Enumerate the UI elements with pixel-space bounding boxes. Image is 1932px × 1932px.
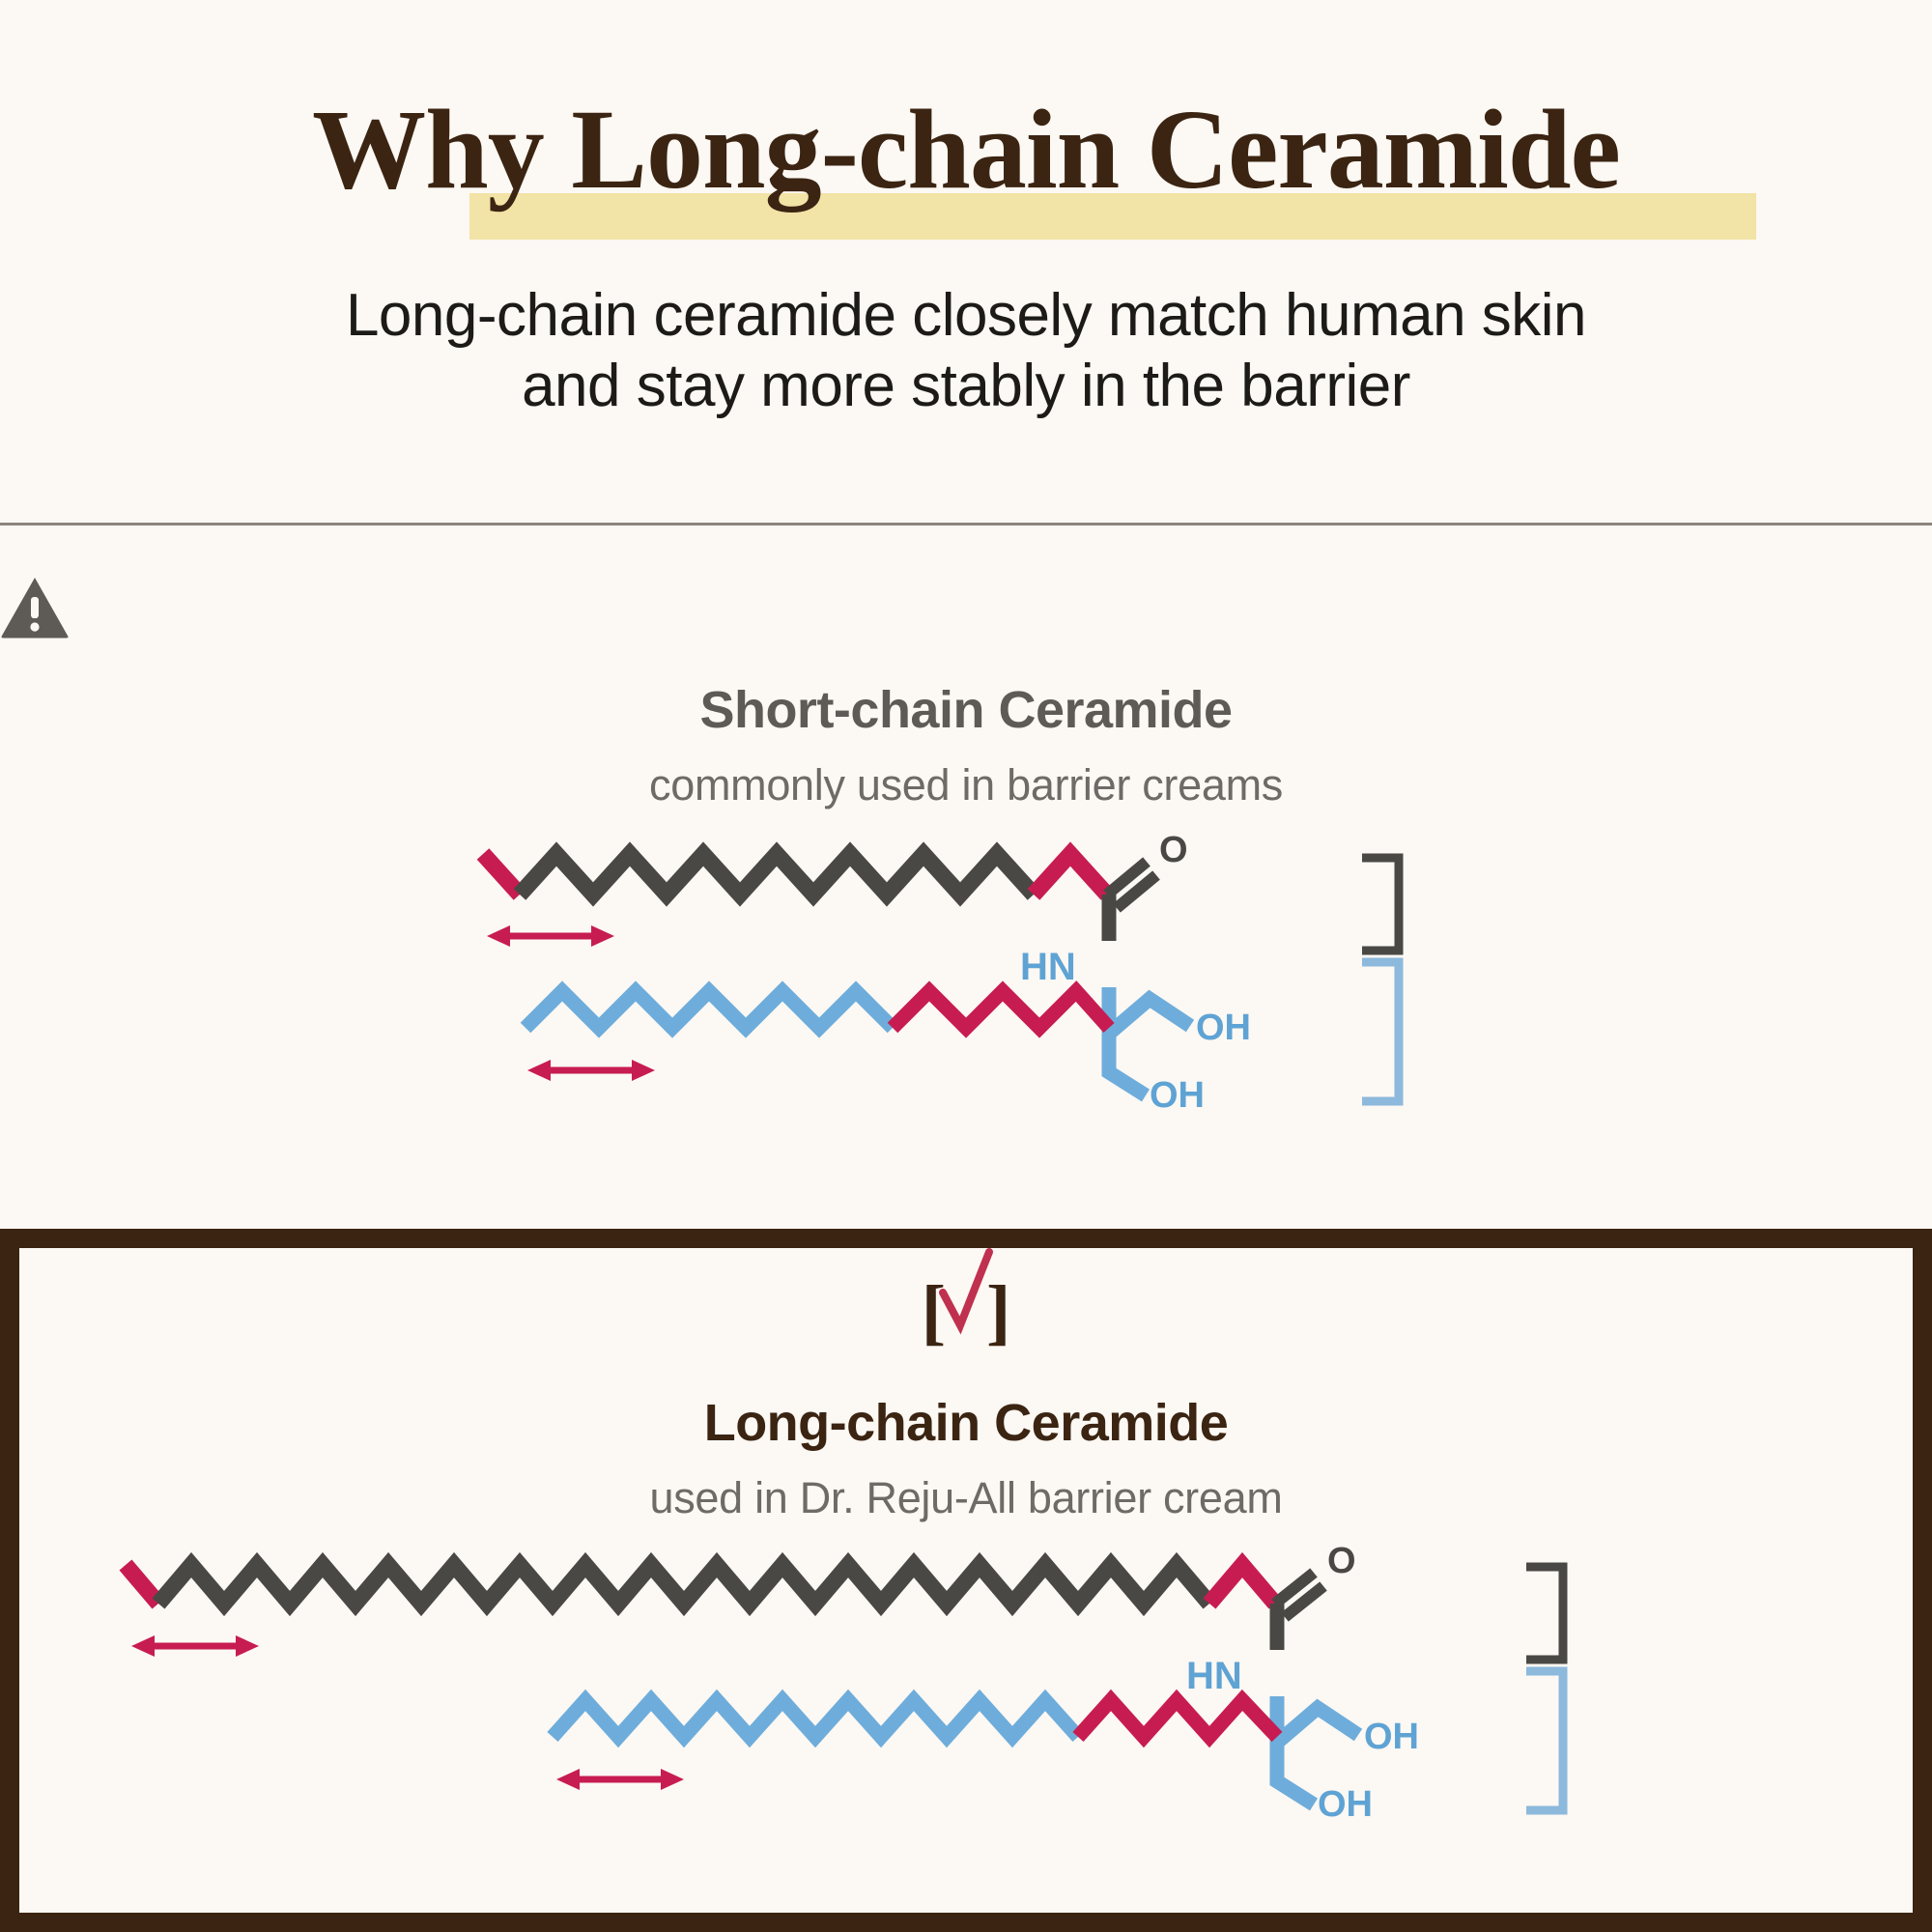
warning-triangle-icon	[0, 576, 70, 639]
short-chain-section: Short-chain Ceramide commonly used in ba…	[0, 526, 1932, 1229]
sphingoid-bracket	[1362, 962, 1399, 1101]
header-section: Why Long-chain Ceramide Long-chain ceram…	[0, 0, 1932, 525]
long-amide-nitrogen-label: HN	[1186, 1655, 1242, 1697]
long-acyl-red-carbonyl-segment	[1209, 1565, 1275, 1604]
short-chain-heading: Short-chain Ceramide	[0, 680, 1932, 740]
bracketed-checkmark-icon: []	[922, 1275, 1011, 1349]
long-sphingoid-c3-hydroxyl-bond	[1277, 1743, 1314, 1804]
long-acyl-dark-zigzag	[158, 1565, 1209, 1604]
long-acyl-length-arrow	[131, 1635, 259, 1657]
check-mark-icon	[939, 1250, 993, 1333]
page-title: Why Long-chain Ceramide	[312, 93, 1620, 207]
short-acyl-dark-zigzag	[520, 854, 1034, 895]
amide-nitrogen-label: HN	[1020, 946, 1076, 988]
short-chain-molecule-diagram: O HN OH OH	[483, 844, 1468, 1192]
long-chain-subheading: used in Dr. Reju-All barrier cream	[19, 1473, 1913, 1523]
long-chain-section: [] Long-chain Ceramide used in Dr. Reju-…	[0, 1229, 1932, 1932]
sphingoid-head-group	[1109, 987, 1190, 1034]
page-title-wrapper: Why Long-chain Ceramide	[0, 93, 1932, 207]
short-chain-subheading: commonly used in barrier creams	[0, 760, 1932, 810]
hydroxyl-upper-label: OH	[1196, 1008, 1251, 1048]
warning-triangle-icon-wrapper	[0, 576, 1932, 639]
short-sphingoid-blue-zigzag	[526, 991, 893, 1028]
long-chain-molecule-diagram: O HN OH OH	[126, 1557, 1845, 1895]
hydroxyl-lower-label: OH	[1150, 1075, 1205, 1116]
long-sphingoid-length-arrow	[556, 1769, 684, 1790]
carbonyl-oxygen-label: O	[1159, 830, 1188, 870]
long-hydroxyl-upper-label: OH	[1364, 1717, 1419, 1757]
short-acyl-length-arrow	[487, 925, 614, 947]
long-sphingoid-blue-zigzag	[553, 1700, 1078, 1737]
acyl-bracket	[1362, 858, 1399, 951]
bracketed-checkmark-icon-wrapper: []	[19, 1275, 1913, 1349]
page-subtitle: Long-chain ceramide closely match human …	[0, 280, 1932, 421]
long-sphingoid-head-group	[1277, 1696, 1358, 1743]
short-sphingoid-length-arrow	[527, 1060, 655, 1081]
long-hydroxyl-lower-label: OH	[1318, 1784, 1373, 1825]
long-sphingoid-bracket	[1526, 1671, 1563, 1810]
short-acyl-red-carbonyl-segment	[1034, 854, 1107, 895]
long-sphingoid-red-segment	[1078, 1700, 1277, 1737]
sphingoid-c3-hydroxyl-bond	[1109, 1034, 1146, 1095]
long-carbonyl-oxygen-label: O	[1327, 1541, 1356, 1581]
page-subtitle-line-2: and stay more stably in the barrier	[0, 351, 1932, 421]
page-subtitle-line-1: Long-chain ceramide closely match human …	[0, 280, 1932, 351]
short-sphingoid-red-segment	[893, 991, 1109, 1028]
long-chain-frame-bottom-border	[0, 1913, 1932, 1932]
long-chain-heading: Long-chain Ceramide	[19, 1393, 1913, 1453]
long-acyl-bracket	[1526, 1567, 1563, 1660]
long-chain-inner-panel: [] Long-chain Ceramide used in Dr. Reju-…	[19, 1248, 1913, 1932]
